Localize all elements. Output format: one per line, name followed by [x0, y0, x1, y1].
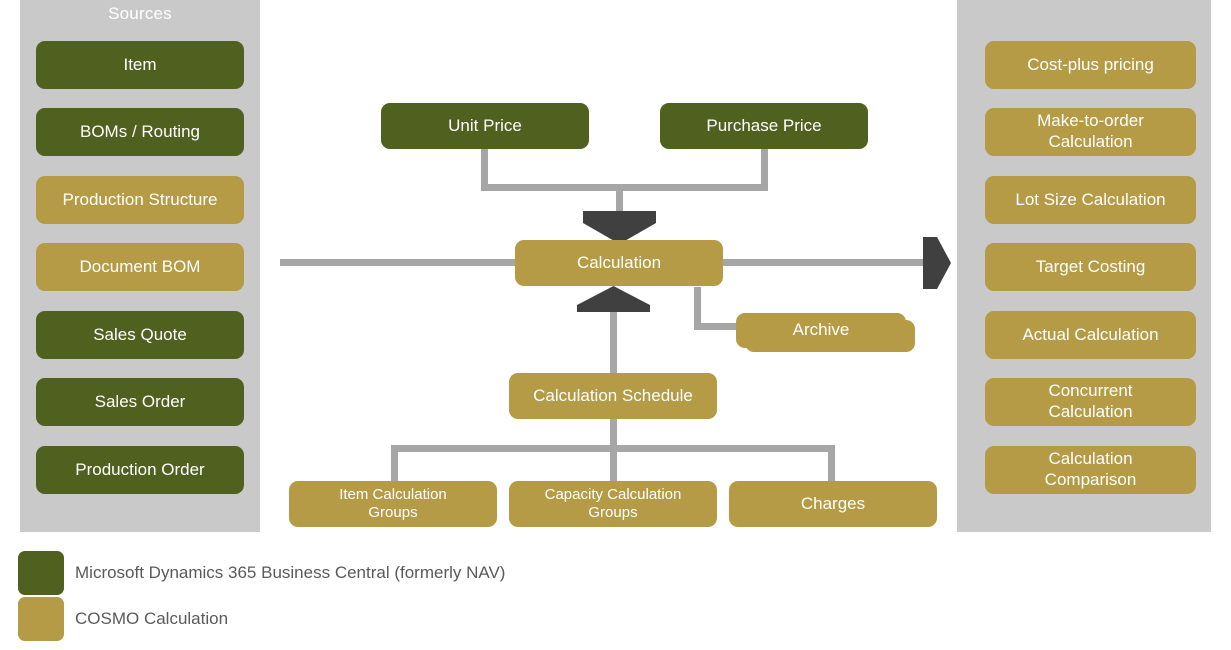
center-node-calculation[interactable]: Calculation: [515, 240, 723, 286]
diagram-canvas: Sources Item BOMs / Routing Production S…: [0, 0, 1231, 650]
source-node-sales-order[interactable]: Sales Order: [36, 378, 244, 426]
result-node-make-to-order-calculation[interactable]: Make-to-order Calculation: [985, 108, 1196, 156]
center-node-unit-price[interactable]: Unit Price: [381, 103, 589, 149]
center-node-purchase-price[interactable]: Purchase Price: [660, 103, 868, 149]
center-node-archive[interactable]: Archive: [736, 313, 906, 348]
arrow-up-into-calculation: [577, 286, 650, 312]
connector-sources-to-calculation: [280, 259, 520, 266]
connector-calculation-to-results: [722, 259, 928, 266]
result-node-actual-calculation[interactable]: Actual Calculation: [985, 311, 1196, 359]
result-node-lot-size-calculation[interactable]: Lot Size Calculation: [985, 176, 1196, 224]
connector-drop-charges: [828, 445, 835, 483]
legend-label-dynamics: Microsoft Dynamics 365 Business Central …: [75, 563, 505, 583]
source-node-boms-routing[interactable]: BOMs / Routing: [36, 108, 244, 156]
legend-swatch-dynamics: [18, 551, 64, 595]
source-node-item[interactable]: Item: [36, 41, 244, 89]
connector-drop-capacity-groups: [610, 445, 617, 483]
source-node-document-bom[interactable]: Document BOM: [36, 243, 244, 291]
source-node-production-order[interactable]: Production Order: [36, 446, 244, 494]
legend-swatch-cosmo: [18, 597, 64, 641]
result-node-cost-plus-pricing[interactable]: Cost-plus pricing: [985, 41, 1196, 89]
result-node-concurrent-calculation[interactable]: Concurrent Calculation: [985, 378, 1196, 426]
connector-price-join-horizontal: [481, 184, 768, 191]
result-node-target-costing[interactable]: Target Costing: [985, 243, 1196, 291]
source-node-production-structure[interactable]: Production Structure: [36, 176, 244, 224]
legend-label-cosmo: COSMO Calculation: [75, 609, 228, 629]
arrow-right-into-results: [923, 237, 951, 289]
center-node-capacity-calculation-groups[interactable]: Capacity Calculation Groups: [509, 481, 717, 527]
source-node-sales-quote[interactable]: Sales Quote: [36, 311, 244, 359]
connector-drop-item-groups: [391, 445, 398, 483]
result-node-calculation-comparison[interactable]: Calculation Comparison: [985, 446, 1196, 494]
center-node-item-calculation-groups[interactable]: Item Calculation Groups: [289, 481, 497, 527]
sources-panel-title: Sources: [20, 4, 260, 24]
center-node-charges[interactable]: Charges: [729, 481, 937, 527]
center-node-calculation-schedule[interactable]: Calculation Schedule: [509, 373, 717, 419]
